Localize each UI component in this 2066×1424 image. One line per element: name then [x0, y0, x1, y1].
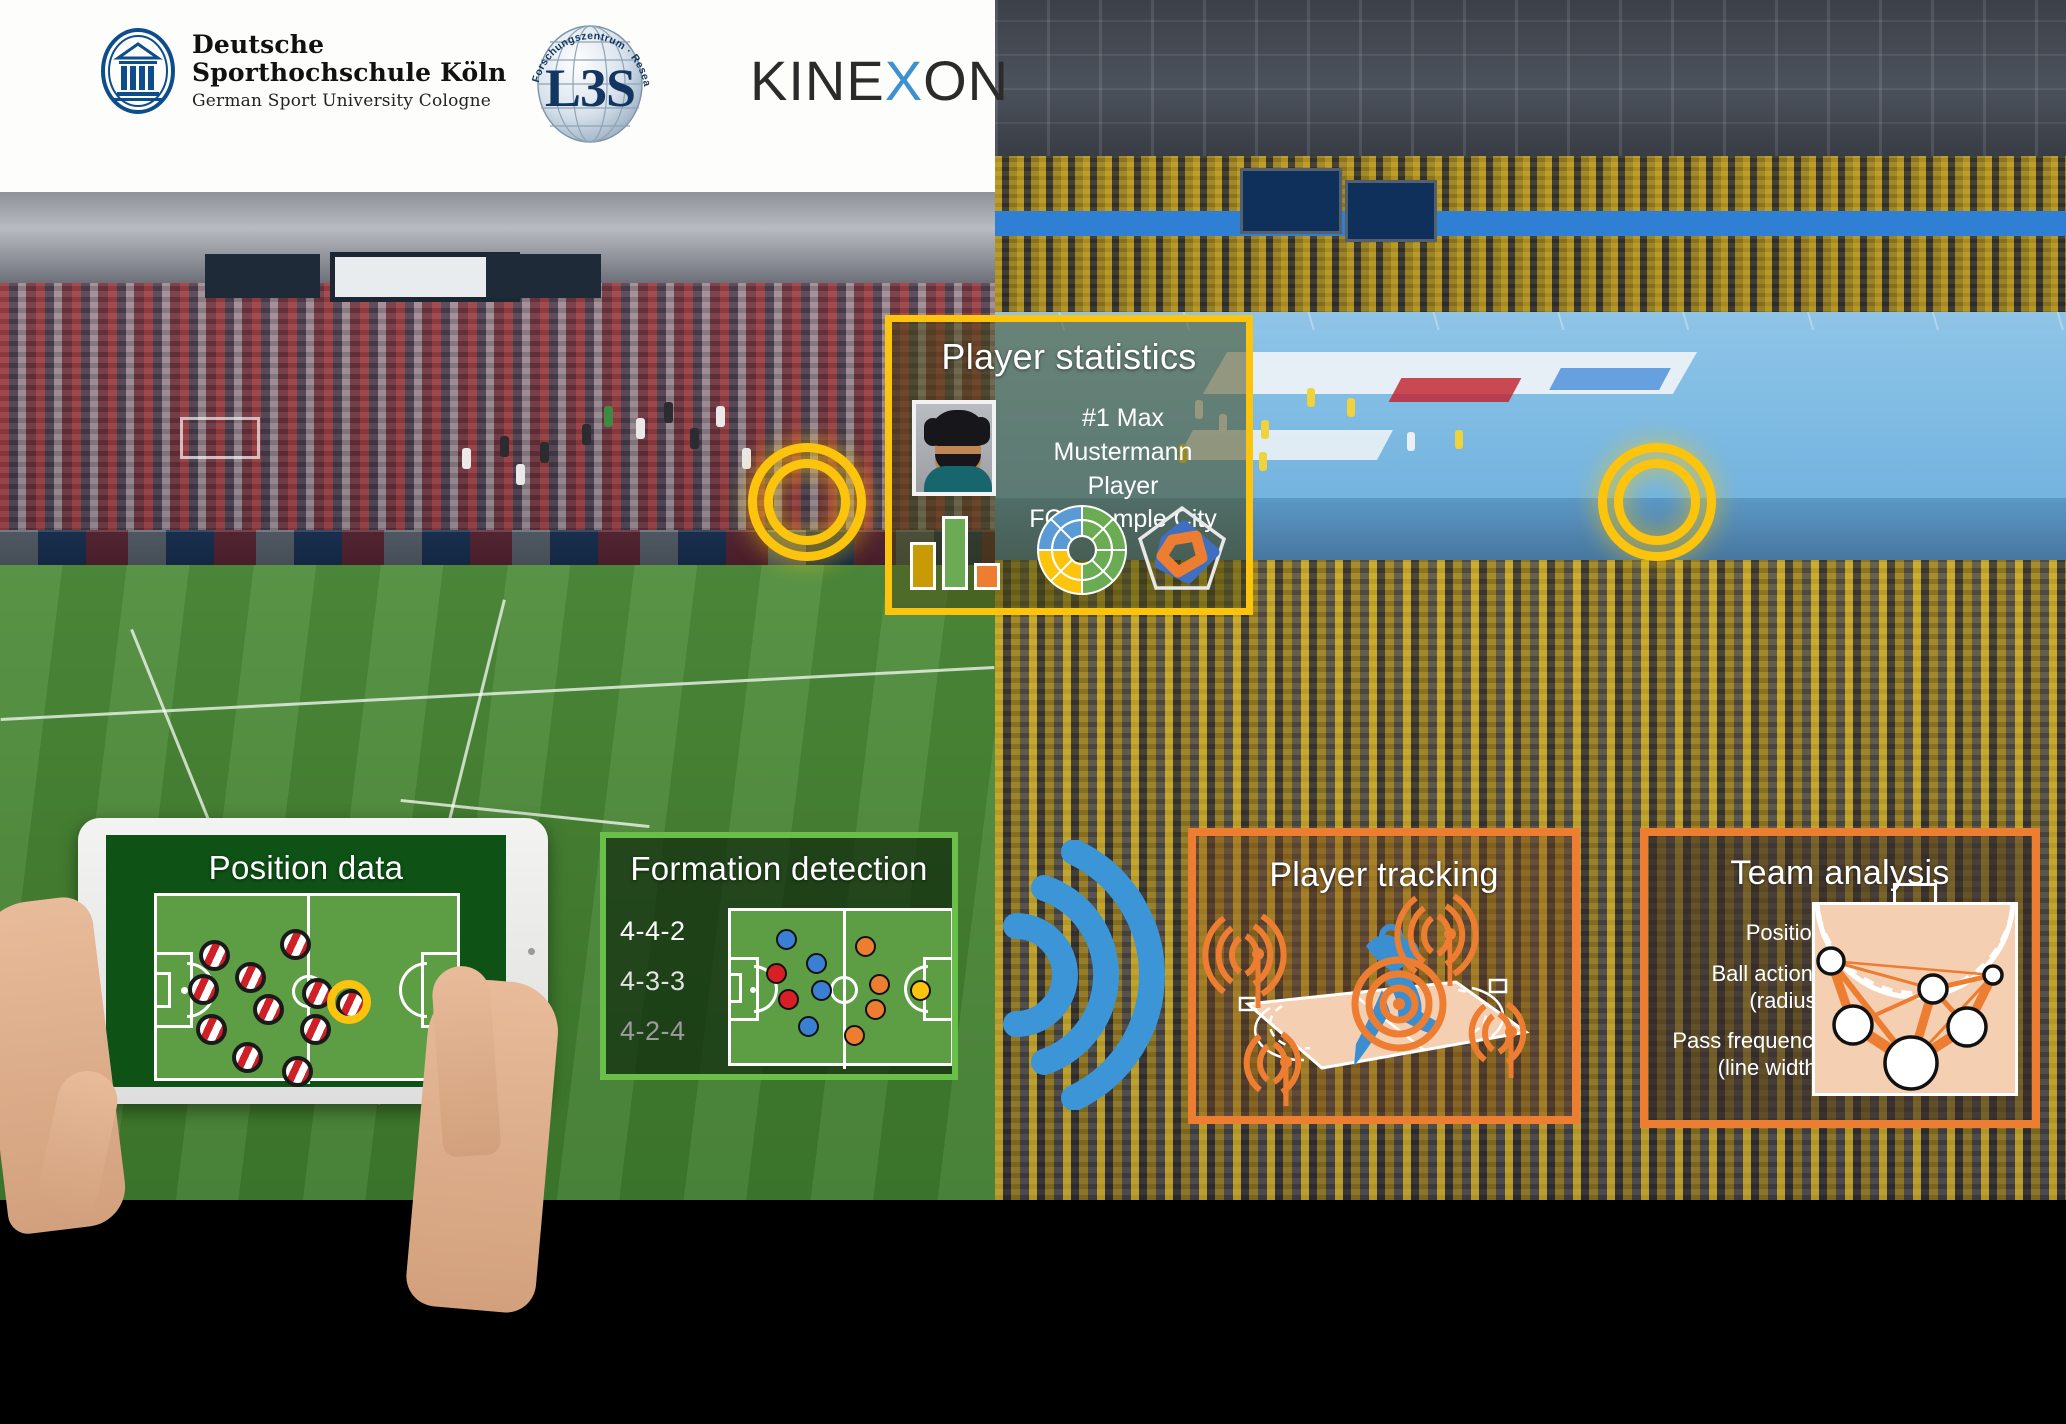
kinexon-part3: ON — [923, 49, 1009, 112]
position-marker[interactable] — [300, 1014, 331, 1045]
team-node — [1818, 948, 1844, 974]
team-analysis-title: Team analysis — [1648, 854, 2032, 893]
player-name: #1 Max Mustermann — [1010, 402, 1236, 470]
team-analysis-court — [1812, 902, 2018, 1096]
svg-text:L3S: L3S — [545, 58, 635, 118]
bar-chart-icon[interactable] — [910, 512, 1006, 590]
kinexon-x: X — [885, 49, 923, 112]
dshs-line1: Deutsche — [192, 31, 506, 59]
team-node — [1885, 1037, 1937, 1089]
formation-marker-blue — [806, 953, 827, 974]
poster-canvas: Deutsche Sporthochschule Köln German Spo… — [0, 0, 2066, 1424]
position-data-title: Position data — [106, 849, 506, 887]
position-marker[interactable] — [280, 929, 311, 960]
dshs-line2: Sporthochschule Köln — [192, 59, 506, 87]
legend-pass-frequency-unit: (line width) — [1656, 1055, 1824, 1082]
formation-marker-red — [766, 963, 787, 984]
panel-player-statistics[interactable]: Player statistics #1 Max Mustermann Play… — [885, 315, 1253, 615]
formation-pitch — [728, 908, 954, 1066]
formation-option-424[interactable]: 4-2-4 — [620, 1016, 738, 1047]
dshs-line3: German Sport University Cologne — [192, 92, 506, 111]
team-node — [1834, 1006, 1872, 1044]
formation-marker-orange — [855, 936, 876, 957]
player-avatar — [912, 400, 996, 496]
player-role: Player — [1010, 470, 1236, 504]
legend-position: Position — [1656, 920, 1824, 947]
dshs-seal-icon — [100, 28, 176, 114]
formation-marker-orange — [865, 999, 886, 1020]
panel-team-analysis[interactable]: Team analysis Position Ball actions (rad… — [1640, 828, 2040, 1128]
radar-chart-icon[interactable] — [1132, 502, 1232, 596]
position-marker[interactable] — [253, 994, 284, 1025]
legend-pass-frequency: Pass frequency — [1656, 1028, 1824, 1055]
sunburst-chart-icon[interactable] — [1034, 504, 1134, 596]
formation-marker-blue — [811, 980, 832, 1001]
formation-marker-blue — [776, 929, 797, 950]
formation-option-433[interactable]: 4-3-3 — [620, 966, 738, 997]
team-node — [1919, 975, 1947, 1003]
panel-player-tracking[interactable]: Player tracking — [1188, 828, 1580, 1124]
dshs-logo: Deutsche Sporthochschule Köln German Spo… — [100, 28, 506, 114]
panel-formation-detection[interactable]: Formation detection 4-4-2 4-3-3 4-2-4 — [600, 832, 958, 1080]
position-marker[interactable] — [199, 940, 230, 971]
position-marker[interactable] — [282, 1056, 313, 1087]
formation-marker-red — [778, 989, 799, 1010]
header-banner: Deutsche Sporthochschule Köln German Spo… — [0, 0, 995, 192]
formation-marker-orange — [869, 974, 890, 995]
player-statistics-title: Player statistics — [892, 336, 1246, 378]
kinexon-part1: KINE — [750, 49, 885, 112]
legend-ball-actions-unit: (radius) — [1656, 988, 1824, 1015]
formation-marker-orange — [844, 1025, 865, 1046]
position-marker[interactable] — [232, 1042, 263, 1073]
team-node — [1984, 966, 2002, 984]
position-marker[interactable] — [196, 1014, 227, 1045]
position-marker[interactable] — [235, 962, 266, 993]
legend-ball-actions: Ball actions — [1656, 961, 1824, 988]
formation-option-list[interactable]: 4-4-2 4-3-3 4-2-4 — [620, 916, 738, 1066]
team-node — [1948, 1008, 1986, 1046]
kinexon-logo: KINEXON — [750, 48, 1009, 113]
formation-marker-blue — [798, 1016, 819, 1037]
position-pitch — [154, 893, 460, 1081]
position-marker[interactable] — [188, 974, 219, 1005]
selected-player-highlight[interactable] — [327, 980, 371, 1024]
formation-detection-title: Formation detection — [606, 850, 952, 888]
formation-marker-yellow — [910, 980, 931, 1001]
goal-icon — [1893, 883, 1937, 905]
formation-option-442[interactable]: 4-4-2 — [620, 916, 738, 947]
team-analysis-legend: Position Ball actions (radius) Pass freq… — [1656, 920, 1824, 1096]
l3s-logo-icon: Forschungszentrum · Research Center L3S — [520, 14, 660, 146]
wifi-arcs-icon — [998, 840, 1208, 1110]
